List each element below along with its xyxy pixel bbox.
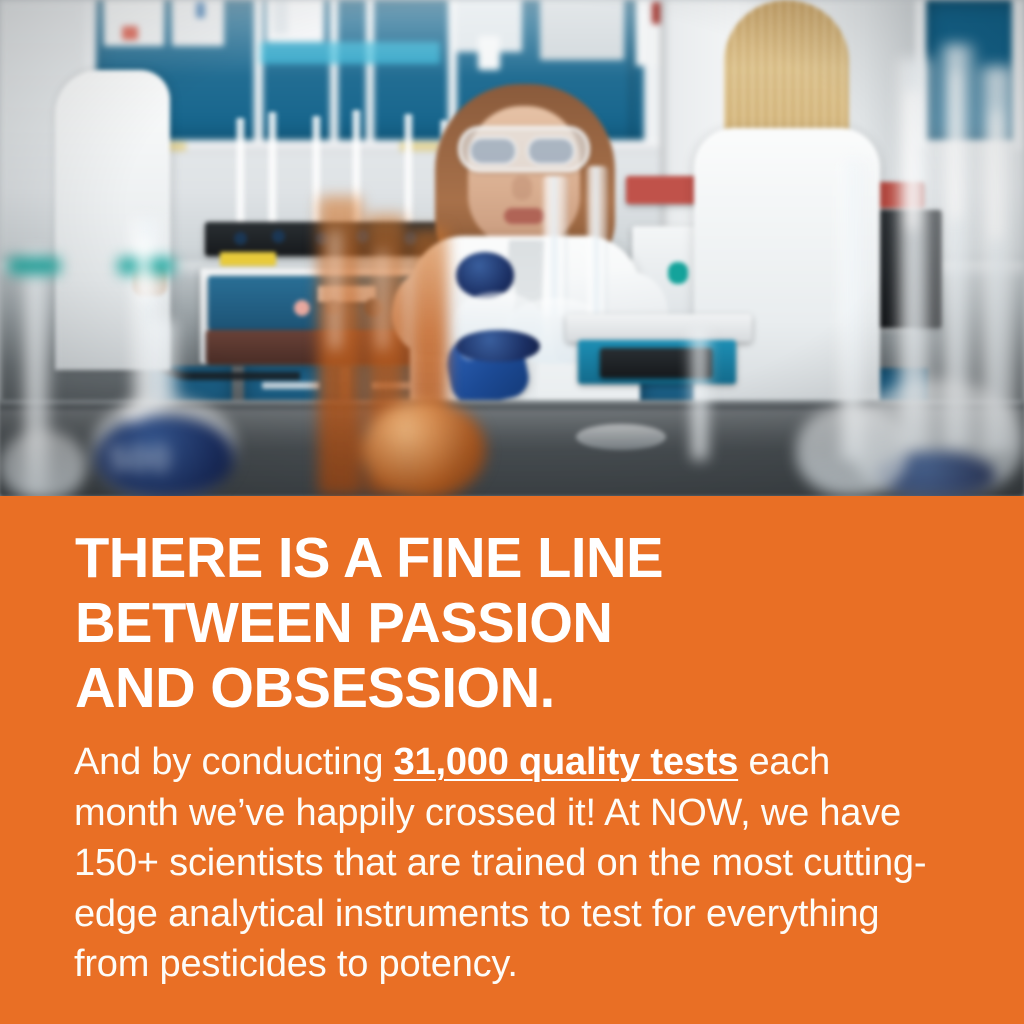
page-title: THERE IS A FINE LINE BETWEEN PASSION AND… (75, 526, 962, 721)
test-tube (690, 330, 710, 460)
glass-highlight (990, 110, 1002, 240)
glass-highlight (138, 240, 150, 300)
social-media-poster: 500 (0, 0, 1024, 1024)
glass-highlight (906, 90, 918, 230)
pipette-cap-teal (8, 258, 60, 274)
volumetric-flask-right (796, 404, 908, 496)
photo-foreground-glassware: 500 (0, 0, 1024, 496)
flask-neck (148, 320, 180, 406)
amber-reagent-column (318, 196, 362, 496)
glass-highlight (122, 404, 144, 422)
amber-flask-bulb (362, 400, 486, 496)
erlenmeyer-flask-foreground (0, 430, 86, 496)
body-copy: And by conducting 31,000 quality tests e… (74, 737, 930, 990)
body-copy-segment-1: And by conducting (74, 741, 394, 783)
laboratory-photo: 500 (0, 0, 1024, 496)
glass-highlight (378, 250, 387, 350)
quality-tests-highlight: 31,000 quality tests (394, 741, 739, 783)
glass-highlight (950, 70, 961, 220)
flask-volume-label: 500 (108, 438, 171, 480)
glass-highlight (330, 230, 340, 350)
